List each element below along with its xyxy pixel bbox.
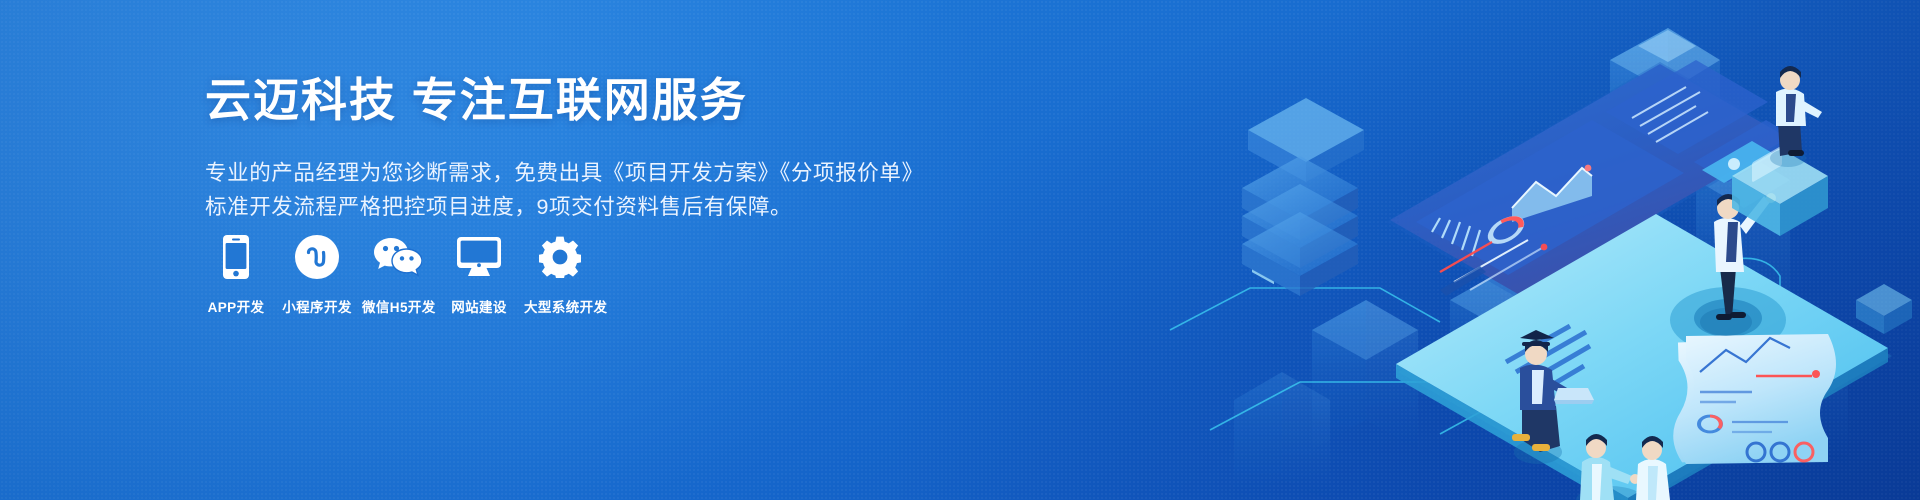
service-label: APP开发 (200, 296, 272, 316)
desktop-monitor-icon (443, 232, 515, 282)
service-label: 大型系统开发 (524, 296, 596, 316)
service-item-mini-program[interactable]: 小程序开发 (281, 232, 353, 316)
banner-copy: 云迈科技 专注互联网服务 专业的产品经理为您诊断需求，免费出具《项目开发方案》《… (205, 72, 905, 225)
floating-blocks (1856, 284, 1912, 334)
subtitle-block: 专业的产品经理为您诊断需求，免费出具《项目开发方案》《分项报价单》 标准开发流程… (205, 156, 905, 226)
service-item-app[interactable]: APP开发 (200, 232, 272, 316)
server-stack (1242, 98, 1364, 296)
subtitle-line-2: 标准开发流程严格把控项目进度，9项交付资料售后有保障。 (205, 190, 905, 225)
page-title: 云迈科技 专注互联网服务 (205, 72, 905, 130)
report-paper-scroll (1670, 334, 1836, 464)
promo-banner: 云迈科技 专注互联网服务 专业的产品经理为您诊断需求，免费出具《项目开发方案》《… (0, 0, 1920, 500)
mini-program-icon (281, 232, 353, 282)
wechat-icon (362, 232, 434, 282)
service-label: 网站建设 (443, 296, 515, 316)
mobile-phone-icon (200, 232, 272, 282)
service-item-large-system[interactable]: 大型系统开发 (524, 232, 596, 316)
service-list: APP开发 小程序开发 微信 (200, 232, 605, 316)
service-item-wechat-h5[interactable]: 微信H5开发 (362, 232, 434, 316)
subtitle-line-1: 专业的产品经理为您诊断需求，免费出具《项目开发方案》《分项报价单》 (205, 156, 905, 191)
service-label: 微信H5开发 (362, 296, 434, 316)
service-item-website[interactable]: 网站建设 (443, 232, 515, 316)
service-label: 小程序开发 (281, 296, 353, 316)
isometric-illustration (1140, 0, 1920, 500)
gear-icon (524, 232, 596, 282)
